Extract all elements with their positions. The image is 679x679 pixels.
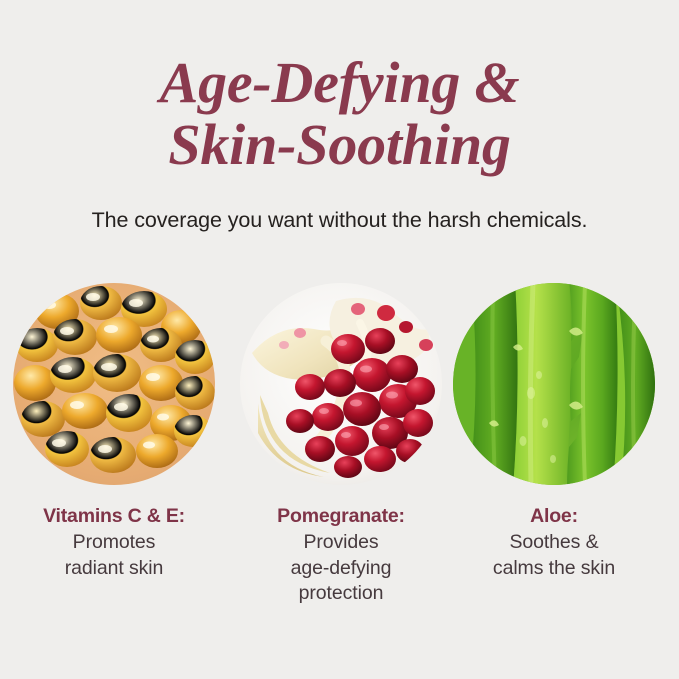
subtitle: The coverage you want without the harsh …: [0, 206, 679, 234]
ingredient-item-pomegranate: Pomegranate: Provides age-defying protec…: [228, 283, 454, 607]
headline-line-1: Age-Defying &: [0, 52, 679, 114]
ingredient-desc-pomegranate: Provides age-defying protection: [228, 530, 454, 607]
ingredient-list: Vitamins C & E: Promotes radiant skin: [0, 283, 679, 643]
ingredient-desc-line-2: radiant skin: [1, 556, 227, 582]
vitamin-softgel-capsules-photo: [13, 283, 215, 485]
ingredient-desc-line-3: protection: [228, 581, 454, 607]
ingredient-desc-line-1: Provides: [228, 530, 454, 556]
ingredient-label-aloe: Aloe:: [441, 504, 667, 528]
ingredient-item-vitamins: Vitamins C & E: Promotes radiant skin: [1, 283, 227, 581]
ingredient-desc-vitamins: Promotes radiant skin: [1, 530, 227, 581]
ingredient-desc-line-1: Promotes: [1, 530, 227, 556]
pomegranate-fruit-photo: [240, 283, 442, 485]
promo-graphic: Age-Defying & Skin-Soothing The coverage…: [0, 0, 679, 679]
ingredient-item-aloe: Aloe: Soothes & calms the skin: [441, 283, 667, 581]
ingredient-label-vitamins: Vitamins C & E:: [1, 504, 227, 528]
ingredient-desc-line-2: calms the skin: [441, 556, 667, 582]
page-title: Age-Defying & Skin-Soothing: [0, 52, 679, 176]
headline-line-2: Skin-Soothing: [0, 114, 679, 176]
ingredient-desc-aloe: Soothes & calms the skin: [441, 530, 667, 581]
ingredient-desc-line-2: age-defying: [228, 556, 454, 582]
ingredient-label-pomegranate: Pomegranate:: [228, 504, 454, 528]
aloe-vera-leaves-photo: [453, 283, 655, 485]
ingredient-desc-line-1: Soothes &: [441, 530, 667, 556]
